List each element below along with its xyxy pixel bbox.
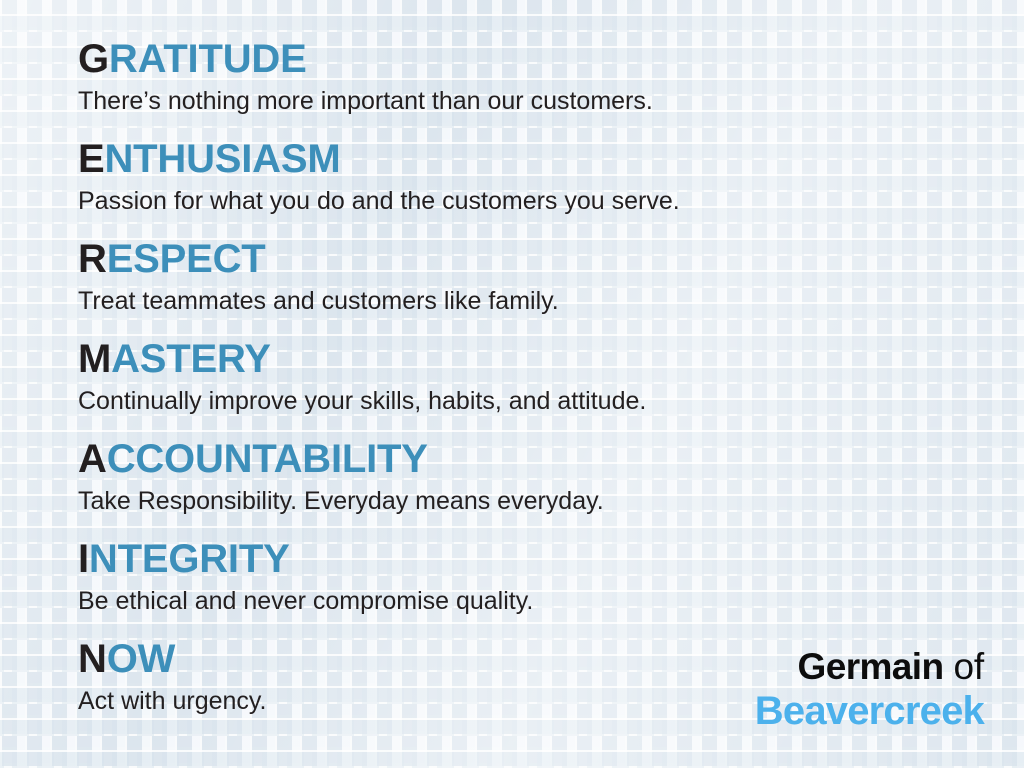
value-heading-enthusiasm: ENTHUSIASM bbox=[78, 136, 978, 182]
value-heading-remainder: ESPECT bbox=[107, 237, 266, 281]
values-poster: GRATITUDE There’s nothing more important… bbox=[0, 0, 1024, 768]
value-heading-remainder: RATITUDE bbox=[109, 37, 307, 81]
value-description-accountability: Take Responsibility. Everyday means ever… bbox=[78, 482, 978, 517]
brand-logo: Germain of Beavercreek bbox=[755, 646, 984, 734]
value-description-enthusiasm: Passion for what you do and the customer… bbox=[78, 182, 978, 217]
brand-logo-name: Germain bbox=[798, 646, 944, 687]
value-heading-respect: RESPECT bbox=[78, 236, 978, 282]
value-heading-remainder: NTEGRITY bbox=[89, 537, 290, 581]
value-description-respect: Treat teammates and customers like famil… bbox=[78, 282, 978, 317]
value-heading-remainder: NTHUSIASM bbox=[104, 137, 340, 181]
value-initial-letter: I bbox=[78, 537, 89, 581]
value-initial-letter: G bbox=[78, 37, 109, 81]
value-description-mastery: Continually improve your skills, habits,… bbox=[78, 382, 978, 417]
value-initial-letter: N bbox=[78, 637, 107, 681]
value-initial-letter: A bbox=[78, 437, 107, 481]
value-heading-mastery: MASTERY bbox=[78, 336, 978, 382]
brand-logo-location: Beavercreek bbox=[755, 688, 984, 734]
value-heading-remainder: OW bbox=[107, 637, 175, 681]
value-heading-remainder: ASTERY bbox=[111, 337, 271, 381]
core-values-list: GRATITUDE There’s nothing more important… bbox=[78, 36, 978, 736]
brand-logo-connector: of bbox=[943, 646, 984, 687]
value-description-integrity: Be ethical and never compromise quality. bbox=[78, 582, 978, 617]
value-block-gratitude: GRATITUDE There’s nothing more important… bbox=[78, 36, 978, 136]
value-heading-accountability: ACCOUNTABILITY bbox=[78, 436, 978, 482]
value-block-respect: RESPECT Treat teammates and customers li… bbox=[78, 236, 978, 336]
value-block-mastery: MASTERY Continually improve your skills,… bbox=[78, 336, 978, 436]
value-heading-integrity: INTEGRITY bbox=[78, 536, 978, 582]
value-initial-letter: M bbox=[78, 337, 111, 381]
value-description-gratitude: There’s nothing more important than our … bbox=[78, 82, 978, 117]
brand-logo-top-line: Germain of bbox=[755, 646, 984, 688]
value-block-enthusiasm: ENTHUSIASM Passion for what you do and t… bbox=[78, 136, 978, 236]
value-initial-letter: E bbox=[78, 137, 104, 181]
value-block-integrity: INTEGRITY Be ethical and never compromis… bbox=[78, 536, 978, 636]
value-heading-remainder: CCOUNTABILITY bbox=[107, 437, 428, 481]
value-initial-letter: R bbox=[78, 237, 107, 281]
value-block-accountability: ACCOUNTABILITY Take Responsibility. Ever… bbox=[78, 436, 978, 536]
value-heading-gratitude: GRATITUDE bbox=[78, 36, 978, 82]
